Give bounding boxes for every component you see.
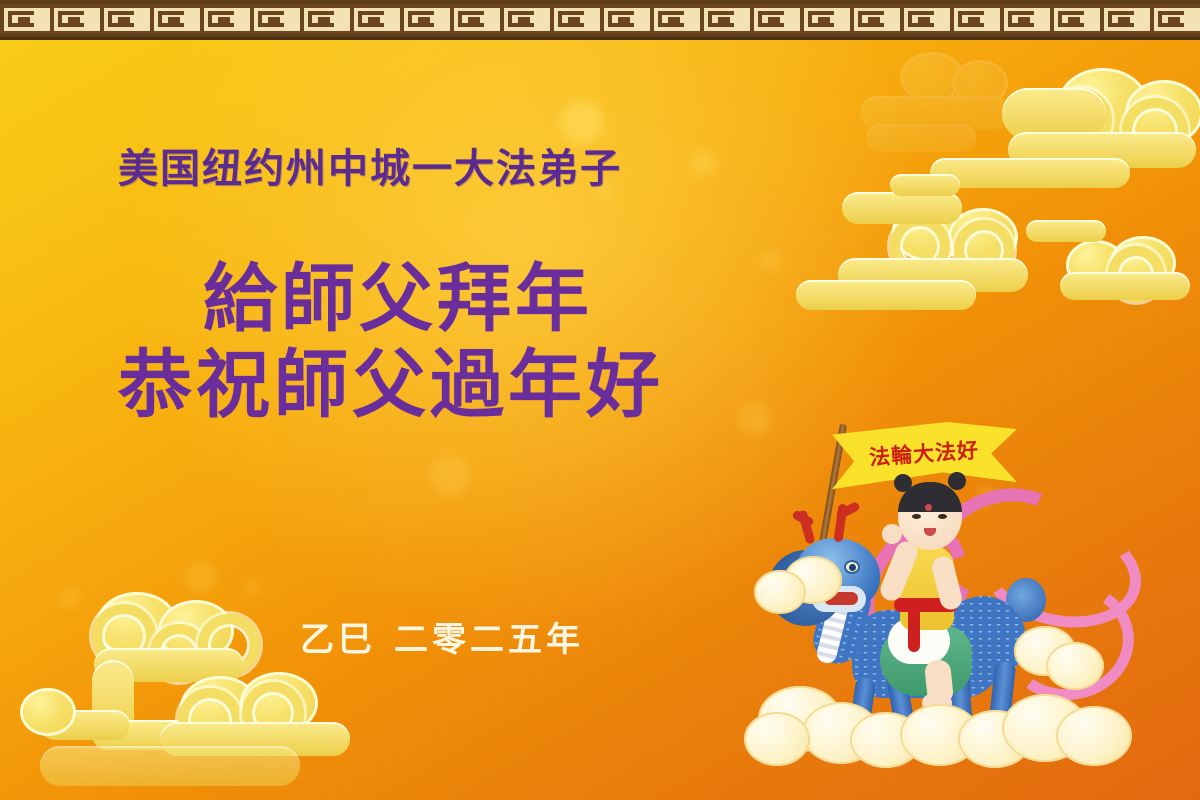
meander-unit: [100, 4, 150, 34]
date-line: 乙巳二零二五年: [300, 612, 584, 661]
meander-unit: [300, 4, 350, 34]
meander-unit: [550, 4, 600, 34]
meander-unit: [350, 4, 400, 34]
ground-cloud: [1046, 642, 1104, 690]
meander-unit: [1050, 4, 1100, 34]
meander-unit: [750, 4, 800, 34]
bokeh-light: [60, 588, 80, 608]
meander-unit: [800, 4, 850, 34]
meander-unit: [250, 4, 300, 34]
child-eye: [912, 514, 921, 519]
child-eye: [938, 514, 947, 519]
meander-unit: [400, 4, 450, 34]
ground-cloud: [744, 712, 810, 766]
meander-unit: [500, 4, 550, 34]
bokeh-light: [244, 580, 260, 596]
meander-unit: [850, 4, 900, 34]
dragon-rider-illustration: 法輪大法好: [740, 410, 1160, 800]
meander-unit: [150, 4, 200, 34]
child-hair-bun: [894, 474, 912, 492]
greeting-title-line-1: 給師父拜年: [203, 262, 593, 336]
greek-key-border: [0, 0, 1200, 40]
organization-subtitle: 美国纽约州中城一大法弟子: [118, 136, 622, 194]
meander-unit: [900, 4, 950, 34]
meander-unit: [700, 4, 750, 34]
meander-unit: [1100, 4, 1150, 34]
child-hair-bun: [948, 472, 966, 490]
child-sash-tail: [908, 608, 920, 652]
date-year: 二零二五年: [394, 620, 584, 660]
meander-unit: [450, 4, 500, 34]
meander-unit: [650, 4, 700, 34]
bokeh-light: [690, 150, 716, 176]
meander-unit: [1000, 4, 1050, 34]
ground-cloud: [1056, 706, 1132, 766]
bokeh-light: [430, 456, 470, 496]
greeting-title-line-2: 恭祝師父過年好: [118, 348, 664, 422]
dragon-pupil: [849, 564, 856, 571]
meander-unit: [600, 4, 650, 34]
ground-cloud: [754, 570, 806, 614]
meander-unit: [0, 4, 50, 34]
bokeh-light: [760, 250, 782, 272]
meander-unit: [50, 4, 100, 34]
new-year-greeting-card: 美国纽约州中城一大法弟子 給師父拜年 恭祝師父過年好 乙巳二零二五年 法輪大法好: [0, 0, 1200, 800]
meander-unit: [1150, 4, 1200, 34]
bokeh-light: [186, 562, 216, 592]
meander-unit: [200, 4, 250, 34]
meander-unit: [950, 4, 1000, 34]
child-forehead-dot: [925, 504, 932, 511]
date-ganzhi: 乙巳: [300, 620, 376, 660]
